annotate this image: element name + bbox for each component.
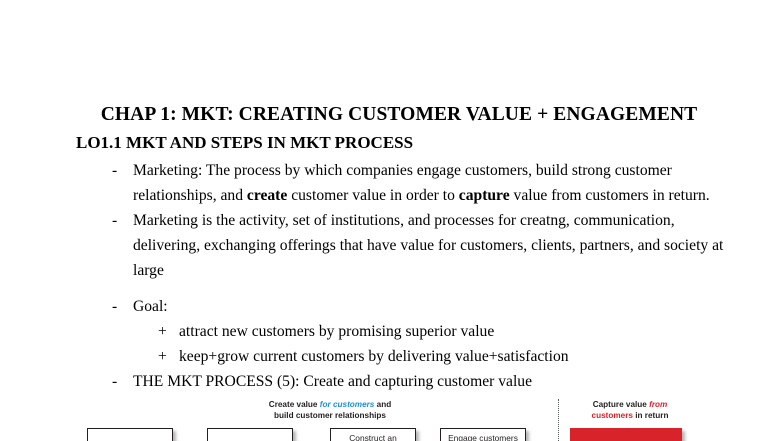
bullet-plus: + (158, 344, 167, 369)
run-text: value from customers in return. (510, 187, 710, 204)
sub-list-item: + attract new customers by promising sup… (76, 319, 736, 344)
caption-right-accent-2: customers (592, 411, 633, 420)
caption-right-post: in return (633, 411, 668, 420)
run-text: Goal: (133, 298, 168, 315)
figure-step-box-4: Engage customers (440, 428, 526, 441)
emphasis-text: create (247, 187, 287, 204)
run-text: attract new customers by promising super… (179, 323, 494, 340)
figure-step-box-3: Construct an (330, 428, 416, 441)
section-heading: LO1.1 MKT AND STEPS IN MKT PROCESS (76, 133, 413, 153)
caption-left-pre: Create value (269, 400, 320, 409)
list-spacer (76, 283, 736, 294)
caption-left-line2: build customer relationships (274, 411, 386, 420)
run-text: Marketing is the activity, set of instit… (133, 212, 723, 279)
figure-step-box-2 (207, 428, 293, 441)
emphasis-text: capture (459, 187, 510, 204)
figure-dotted-divider (558, 399, 559, 441)
bullet-dash: - (112, 294, 117, 319)
list-item-text: THE MKT PROCESS (5): Create and capturin… (133, 369, 736, 394)
run-text: keep+grow current customers by deliverin… (179, 348, 569, 365)
list-item: - Marketing is the activity, set of inst… (76, 208, 736, 283)
sub-list-item: + keep+grow current customers by deliver… (76, 344, 736, 369)
bullet-plus: + (158, 319, 167, 344)
figure-step-box-5 (570, 428, 682, 441)
sub-list-item-text: keep+grow current customers by deliverin… (179, 344, 736, 369)
page-title: CHAP 1: MKT: CREATING CUSTOMER VALUE + E… (0, 104, 784, 126)
list-item: - Goal: (76, 294, 736, 319)
bullet-dash: - (112, 369, 117, 394)
run-text: THE MKT PROCESS (5): Create and capturin… (133, 373, 532, 390)
bullet-dash: - (112, 208, 117, 233)
sub-list-item-text: attract new customers by promising super… (179, 319, 736, 344)
caption-left-accent: for customers (320, 400, 375, 409)
caption-right-pre: Capture value (593, 400, 649, 409)
caption-right-accent-1: from (649, 400, 667, 409)
figure-caption-left: Create value for customers and build cus… (213, 400, 447, 421)
list-item-text: Marketing is the activity, set of instit… (133, 208, 736, 283)
list-item: - Marketing: The process by which compan… (76, 158, 736, 208)
run-text: customer value in order to (287, 187, 458, 204)
caption-left-post: and (374, 400, 391, 409)
body-bullet-list: - Marketing: The process by which compan… (76, 158, 736, 394)
figure-caption-right: Capture value from customers in return (566, 400, 694, 421)
bullet-dash: - (112, 158, 117, 183)
list-item: - THE MKT PROCESS (5): Create and captur… (76, 369, 736, 394)
document-page: CHAP 1: MKT: CREATING CUSTOMER VALUE + E… (0, 0, 784, 441)
list-item-text: Goal: (133, 294, 736, 319)
list-item-text: Marketing: The process by which companie… (133, 158, 736, 208)
figure-step-box-1 (87, 428, 173, 441)
